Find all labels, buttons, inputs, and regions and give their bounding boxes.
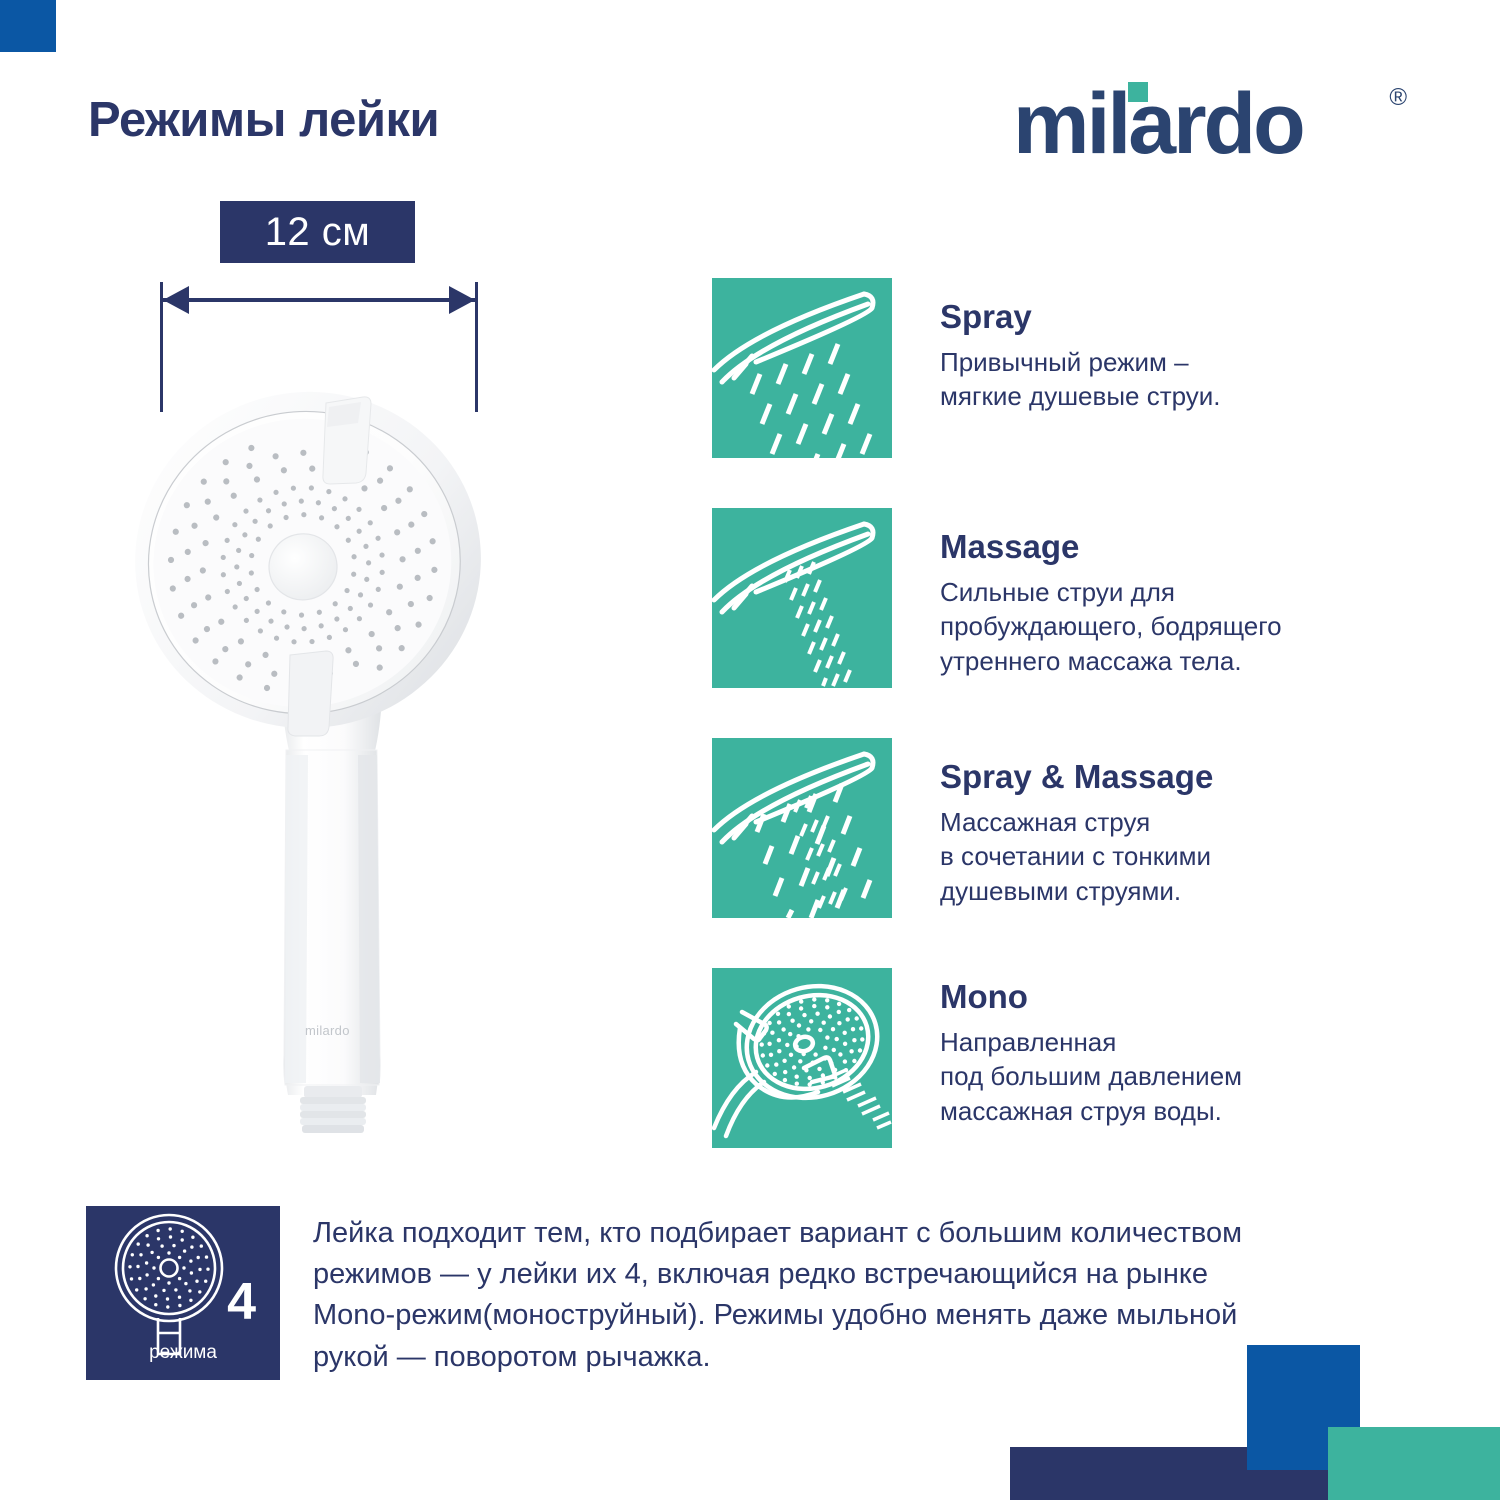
summary-line: Mono-режим(моноструйный). Режимы удобно … [313,1295,1323,1336]
shower-head-spray-icon [712,278,892,458]
summary-line: рукой — поворотом рычажка. [313,1337,1323,1378]
mode-desc-line: Направленная [940,1025,1340,1060]
shower-head-massage-icon [712,508,892,688]
mode-desc-line: пробуждающего, бодрящего [940,609,1340,644]
corner-accent-top-left [0,0,56,52]
mode-title: Spray & Massage [940,760,1340,795]
dimension-arrowhead-right [449,286,475,314]
mode-desc-line: Сильные струи для [940,575,1340,610]
logo-accent-dot-icon [1128,82,1148,102]
registered-trademark-icon: ® [1389,84,1407,112]
shower-head-illustration: milardo [130,355,530,1145]
dimension-badge: 12 см [220,201,415,263]
mode-desc-line: массажная струя воды. [940,1094,1340,1129]
corner-accent-teal-bottom [1328,1427,1500,1500]
dimension-line [163,298,475,302]
mode-row-spray-massage: Spray & Massage Массажная струя в сочета… [712,738,1352,968]
mode-desc-line: мягкие душевые струи. [940,379,1340,414]
mode-description: Сильные струи для пробуждающего, бодряще… [940,575,1340,679]
product-brand-mark: milardo [305,1023,350,1038]
mode-title: Mono [940,980,1340,1015]
mode-desc-line: душевыми струями. [940,874,1340,909]
summary-line: режимов — у лейки их 4, включая редко вс… [313,1254,1323,1295]
brand-logo: milardo ® [1013,78,1403,170]
mode-description: Массажная струя в сочетании с тонкими ду… [940,805,1340,909]
mode-row-mono: Mono Направленная под большим давлением … [712,968,1352,1198]
modes-count-badge: 4 режима [86,1206,280,1380]
summary-line: Лейка подходит тем, кто подбирает вариан… [313,1213,1323,1254]
infographic-canvas: Режимы лейки milardo ® 12 см [0,0,1500,1500]
mode-row-massage: Massage Сильные струи для пробуждающего,… [712,508,1352,738]
shower-head-mono-icon [712,968,892,1148]
mode-desc-line: Массажная струя [940,805,1340,840]
mode-description: Привычный режим – мягкие душевые струи. [940,345,1340,414]
product-image-shower-head: milardo [130,355,530,1145]
mode-text-spray: Spray Привычный режим – мягкие душевые с… [940,300,1340,414]
mode-text-massage: Massage Сильные струи для пробуждающего,… [940,530,1340,678]
mode-list: Spray Привычный режим – мягкие душевые с… [712,278,1352,1198]
modes-count-number: 4 [227,1276,256,1328]
mode-description: Направленная под большим давлением масса… [940,1025,1340,1129]
mode-text-mono: Mono Направленная под большим давлением … [940,980,1340,1128]
hose-connector [300,1086,366,1133]
shower-head-spray-massage-icon [712,738,892,918]
brand-logo-text: milardo [1013,78,1403,170]
mode-title: Spray [940,300,1340,335]
page-title: Режимы лейки [88,96,439,145]
mode-desc-line: в сочетании с тонкими [940,839,1340,874]
summary-paragraph: Лейка подходит тем, кто подбирает вариан… [313,1213,1323,1378]
mode-title: Massage [940,530,1340,565]
mode-row-spray: Spray Привычный режим – мягкие душевые с… [712,278,1352,508]
mode-desc-line: утреннего массажа тела. [940,644,1340,679]
mode-desc-line: под большим давлением [940,1059,1340,1094]
mode-text-spray-massage: Spray & Massage Массажная струя в сочета… [940,760,1340,908]
modes-count-label: режима [86,1342,280,1364]
dimension-arrowhead-left [163,286,189,314]
mode-desc-line: Привычный режим – [940,345,1340,380]
